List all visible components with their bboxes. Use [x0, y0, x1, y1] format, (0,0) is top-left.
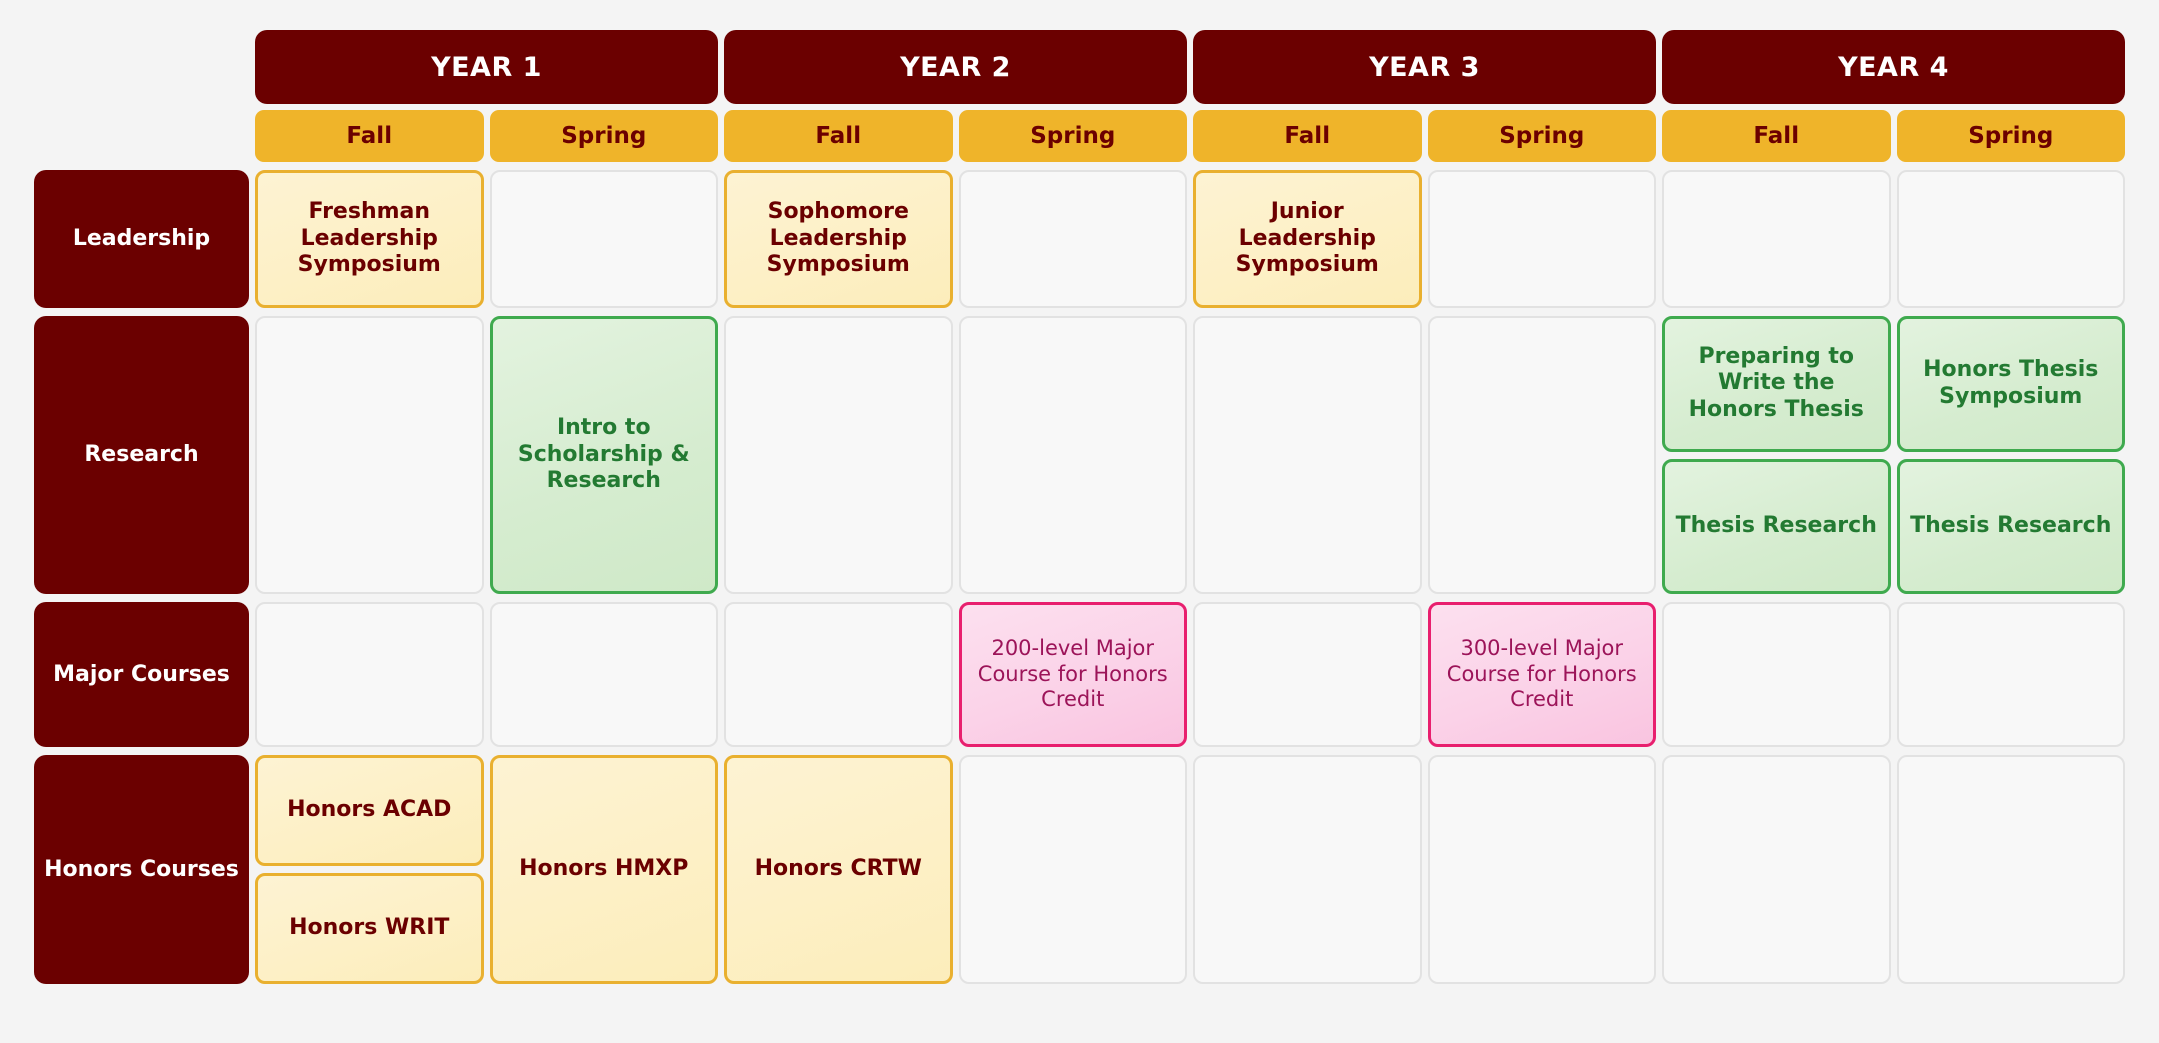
term-column: Intro to Scholarship & Research [490, 316, 719, 594]
track-label: Honors Courses [34, 755, 249, 984]
track-row: Major Courses200-level Major Course for … [34, 602, 2125, 747]
term-column [255, 316, 484, 594]
term-column: Honors ACADHonors WRIT [255, 755, 484, 984]
year-header-cell: YEAR 1 [255, 30, 718, 104]
empty-cell [1897, 170, 2126, 308]
empty-cell [255, 316, 484, 594]
empty-cell [1428, 755, 1657, 984]
term-column [959, 755, 1188, 984]
empty-cell [1662, 755, 1891, 984]
term-column [1897, 602, 2126, 747]
term-header-cell: Fall [724, 110, 953, 162]
course-cell[interactable]: Preparing to Write the Honors Thesis [1662, 316, 1891, 452]
term-column [1193, 602, 1422, 747]
empty-cell [1193, 316, 1422, 594]
term-column [1897, 755, 2126, 984]
term-header-cell: Fall [1193, 110, 1422, 162]
term-column [1897, 170, 2126, 308]
term-column [1193, 755, 1422, 984]
term-column [490, 602, 719, 747]
term-column [1193, 316, 1422, 594]
empty-cell [959, 755, 1188, 984]
term-column [1428, 316, 1657, 594]
term-column: Honors HMXP [490, 755, 719, 984]
course-cell[interactable]: Intro to Scholarship & Research [490, 316, 719, 594]
empty-cell [1193, 602, 1422, 747]
empty-cell [1897, 755, 2126, 984]
term-column: Honors CRTW [724, 755, 953, 984]
course-cell[interactable]: Honors HMXP [490, 755, 719, 984]
year-header-cell: YEAR 4 [1662, 30, 2125, 104]
term-column [724, 602, 953, 747]
term-header-cell: Spring [959, 110, 1188, 162]
course-cell[interactable]: Freshman Leadership Symposium [255, 170, 484, 308]
empty-cell [959, 170, 1188, 308]
year-header-cell: YEAR 3 [1193, 30, 1656, 104]
term-column [959, 316, 1188, 594]
term-column [724, 316, 953, 594]
year-header-row: YEAR 1YEAR 2YEAR 3YEAR 4 [255, 30, 2125, 104]
track-row: Honors CoursesHonors ACADHonors WRITHono… [34, 755, 2125, 984]
term-column [1662, 602, 1891, 747]
empty-cell [1662, 602, 1891, 747]
term-column: Freshman Leadership Symposium [255, 170, 484, 308]
term-column: Junior Leadership Symposium [1193, 170, 1422, 308]
course-cell[interactable]: Thesis Research [1662, 459, 1891, 595]
term-column [1662, 170, 1891, 308]
course-cell[interactable]: Honors Thesis Symposium [1897, 316, 2126, 452]
course-cell[interactable]: Honors WRIT [255, 873, 484, 984]
roadmap-header: YEAR 1YEAR 2YEAR 3YEAR 4 FallSpringFallS… [255, 30, 2125, 170]
term-header-cell: Spring [1428, 110, 1657, 162]
term-column [255, 602, 484, 747]
roadmap-body: LeadershipFreshman Leadership SymposiumS… [34, 170, 2125, 1013]
term-column: Preparing to Write the Honors ThesisThes… [1662, 316, 1891, 594]
course-cell[interactable]: Sophomore Leadership Symposium [724, 170, 953, 308]
empty-cell [490, 170, 719, 308]
empty-cell [724, 316, 953, 594]
term-column [1662, 755, 1891, 984]
term-column [959, 170, 1188, 308]
course-cell[interactable]: Junior Leadership Symposium [1193, 170, 1422, 308]
course-cell[interactable]: Thesis Research [1897, 459, 2126, 595]
empty-cell [1428, 170, 1657, 308]
empty-cell [255, 602, 484, 747]
term-header-cell: Spring [490, 110, 719, 162]
track-row: LeadershipFreshman Leadership SymposiumS… [34, 170, 2125, 308]
course-cell[interactable]: 300-level Major Course for Honors Credit [1428, 602, 1657, 747]
empty-cell [1428, 316, 1657, 594]
term-column [1428, 755, 1657, 984]
term-column [490, 170, 719, 308]
year-header-cell: YEAR 2 [724, 30, 1187, 104]
empty-cell [1662, 170, 1891, 308]
term-column: 300-level Major Course for Honors Credit [1428, 602, 1657, 747]
empty-cell [959, 316, 1188, 594]
empty-cell [724, 602, 953, 747]
track-label: Major Courses [34, 602, 249, 747]
track-label: Research [34, 316, 249, 594]
course-cell[interactable]: Honors CRTW [724, 755, 953, 984]
course-cell[interactable]: Honors ACAD [255, 755, 484, 866]
term-header-cell: Fall [1662, 110, 1891, 162]
track-label: Leadership [34, 170, 249, 308]
term-header-cell: Fall [255, 110, 484, 162]
empty-cell [490, 602, 719, 747]
empty-cell [1193, 755, 1422, 984]
empty-cell [1897, 602, 2126, 747]
term-column: 200-level Major Course for Honors Credit [959, 602, 1188, 747]
track-row: ResearchIntro to Scholarship & ResearchP… [34, 316, 2125, 594]
honors-roadmap-chart: YEAR 1YEAR 2YEAR 3YEAR 4 FallSpringFallS… [0, 0, 2159, 1043]
term-header-cell: Spring [1897, 110, 2126, 162]
course-cell[interactable]: 200-level Major Course for Honors Credit [959, 602, 1188, 747]
term-column [1428, 170, 1657, 308]
term-column: Honors Thesis SymposiumThesis Research [1897, 316, 2126, 594]
term-header-row: FallSpringFallSpringFallSpringFallSpring [255, 110, 2125, 162]
term-column: Sophomore Leadership Symposium [724, 170, 953, 308]
